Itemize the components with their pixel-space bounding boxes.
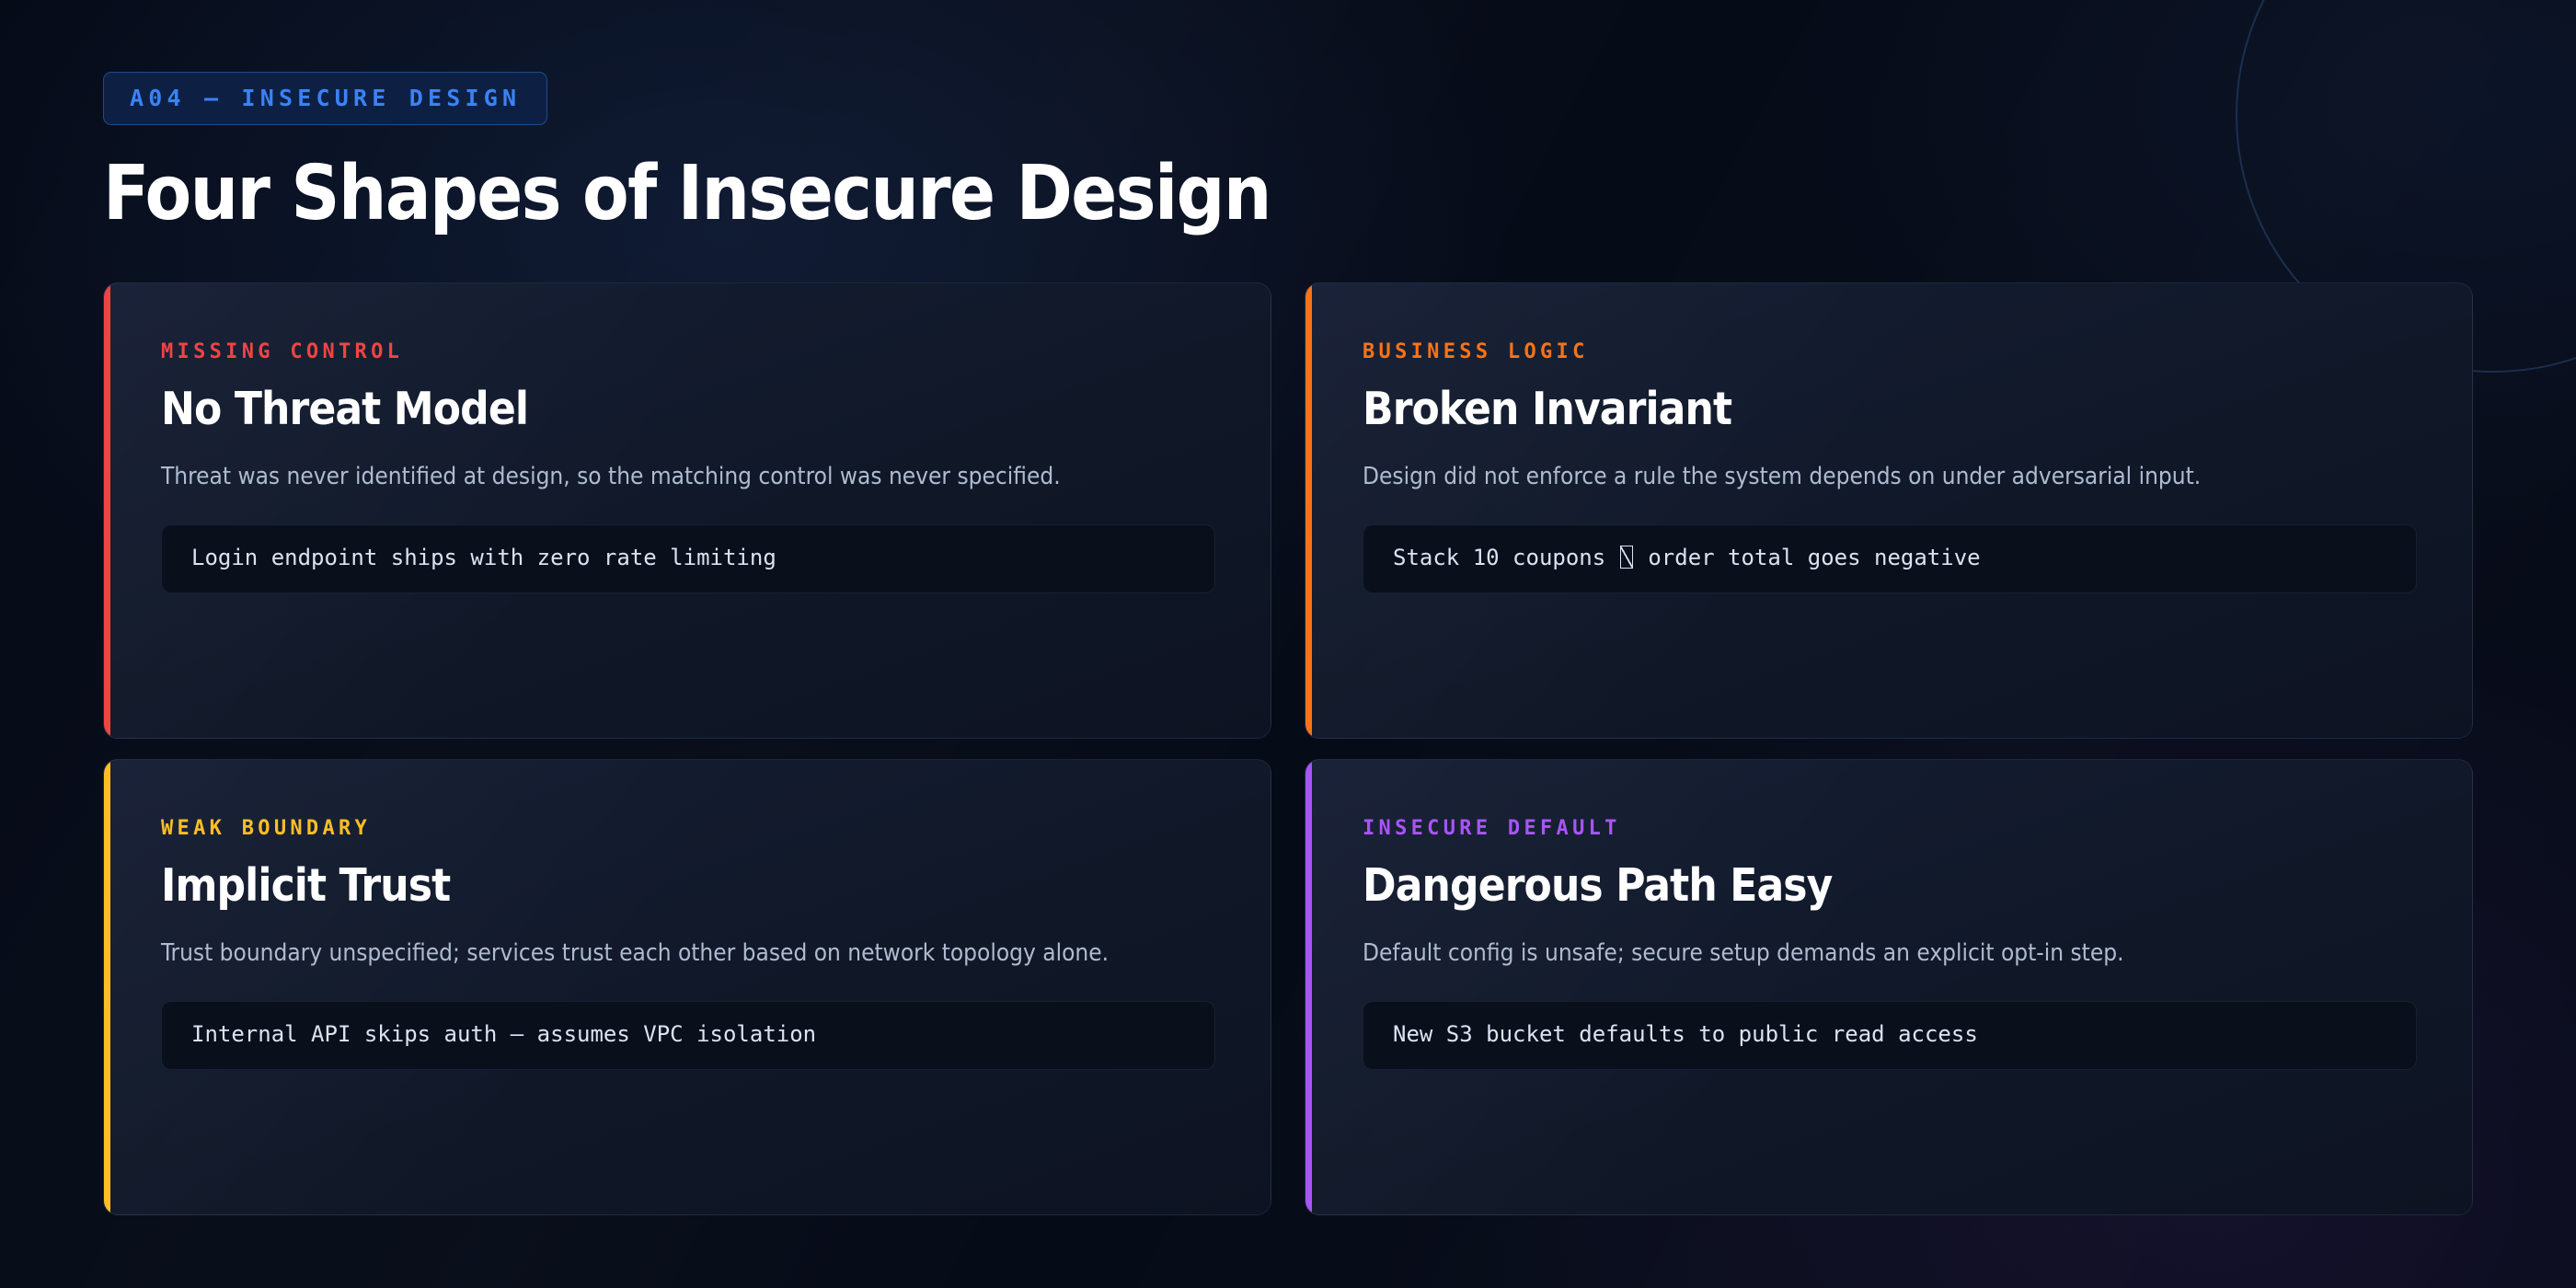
card-code-snippet: Internal API skips auth — assumes VPC is…: [161, 1001, 1215, 1070]
page-title: Four Shapes of Insecure Design: [103, 155, 2473, 235]
card-eyebrow: BUSINESS LOGIC: [1363, 342, 2417, 362]
accent-bar: [104, 760, 110, 1214]
card-title: Dangerous Path Easy: [1363, 862, 2417, 911]
snippet-text-after: order total goes negative: [1635, 545, 1981, 570]
missing-glyph-icon: [1620, 546, 1633, 569]
snippet-text: Login endpoint ships with zero rate limi…: [191, 545, 776, 570]
accent-bar: [1305, 283, 1312, 738]
card-code-snippet: Login endpoint ships with zero rate limi…: [161, 524, 1215, 593]
card-description: Default config is unsafe; secure setup d…: [1363, 937, 2356, 972]
shape-card-missing-control[interactable]: MISSING CONTROL No Threat Model Threat w…: [103, 282, 1271, 739]
snippet-text-before: Stack 10 coupons: [1393, 545, 1619, 570]
card-eyebrow: WEAK BOUNDARY: [161, 819, 1215, 839]
shape-card-grid: MISSING CONTROL No Threat Model Threat w…: [103, 282, 2473, 1215]
card-code-snippet: New S3 bucket defaults to public read ac…: [1363, 1001, 2417, 1070]
snippet-text: Internal API skips auth — assumes VPC is…: [191, 1021, 816, 1047]
card-title: Implicit Trust: [161, 862, 1215, 911]
category-badge: A04 — INSECURE DESIGN: [103, 72, 547, 125]
card-description: Threat was never identified at design, s…: [161, 460, 1155, 495]
snippet-text: New S3 bucket defaults to public read ac…: [1393, 1021, 1978, 1047]
shape-card-weak-boundary[interactable]: WEAK BOUNDARY Implicit Trust Trust bound…: [103, 759, 1271, 1215]
shape-card-insecure-default[interactable]: INSECURE DEFAULT Dangerous Path Easy Def…: [1305, 759, 2473, 1215]
card-code-snippet: Stack 10 coupons order total goes negati…: [1363, 524, 2417, 593]
accent-bar: [1305, 760, 1312, 1214]
card-eyebrow: MISSING CONTROL: [161, 342, 1215, 362]
page-root: A04 — INSECURE DESIGN Four Shapes of Ins…: [0, 0, 2576, 1288]
card-description: Trust boundary unspecified; services tru…: [161, 937, 1155, 972]
shape-card-business-logic[interactable]: BUSINESS LOGIC Broken Invariant Design d…: [1305, 282, 2473, 739]
card-title: Broken Invariant: [1363, 385, 2417, 434]
card-title: No Threat Model: [161, 385, 1215, 434]
card-eyebrow: INSECURE DEFAULT: [1363, 819, 2417, 839]
accent-bar: [104, 283, 110, 738]
page-header: A04 — INSECURE DESIGN Four Shapes of Ins…: [103, 0, 2473, 235]
card-description: Design did not enforce a rule the system…: [1363, 460, 2356, 495]
